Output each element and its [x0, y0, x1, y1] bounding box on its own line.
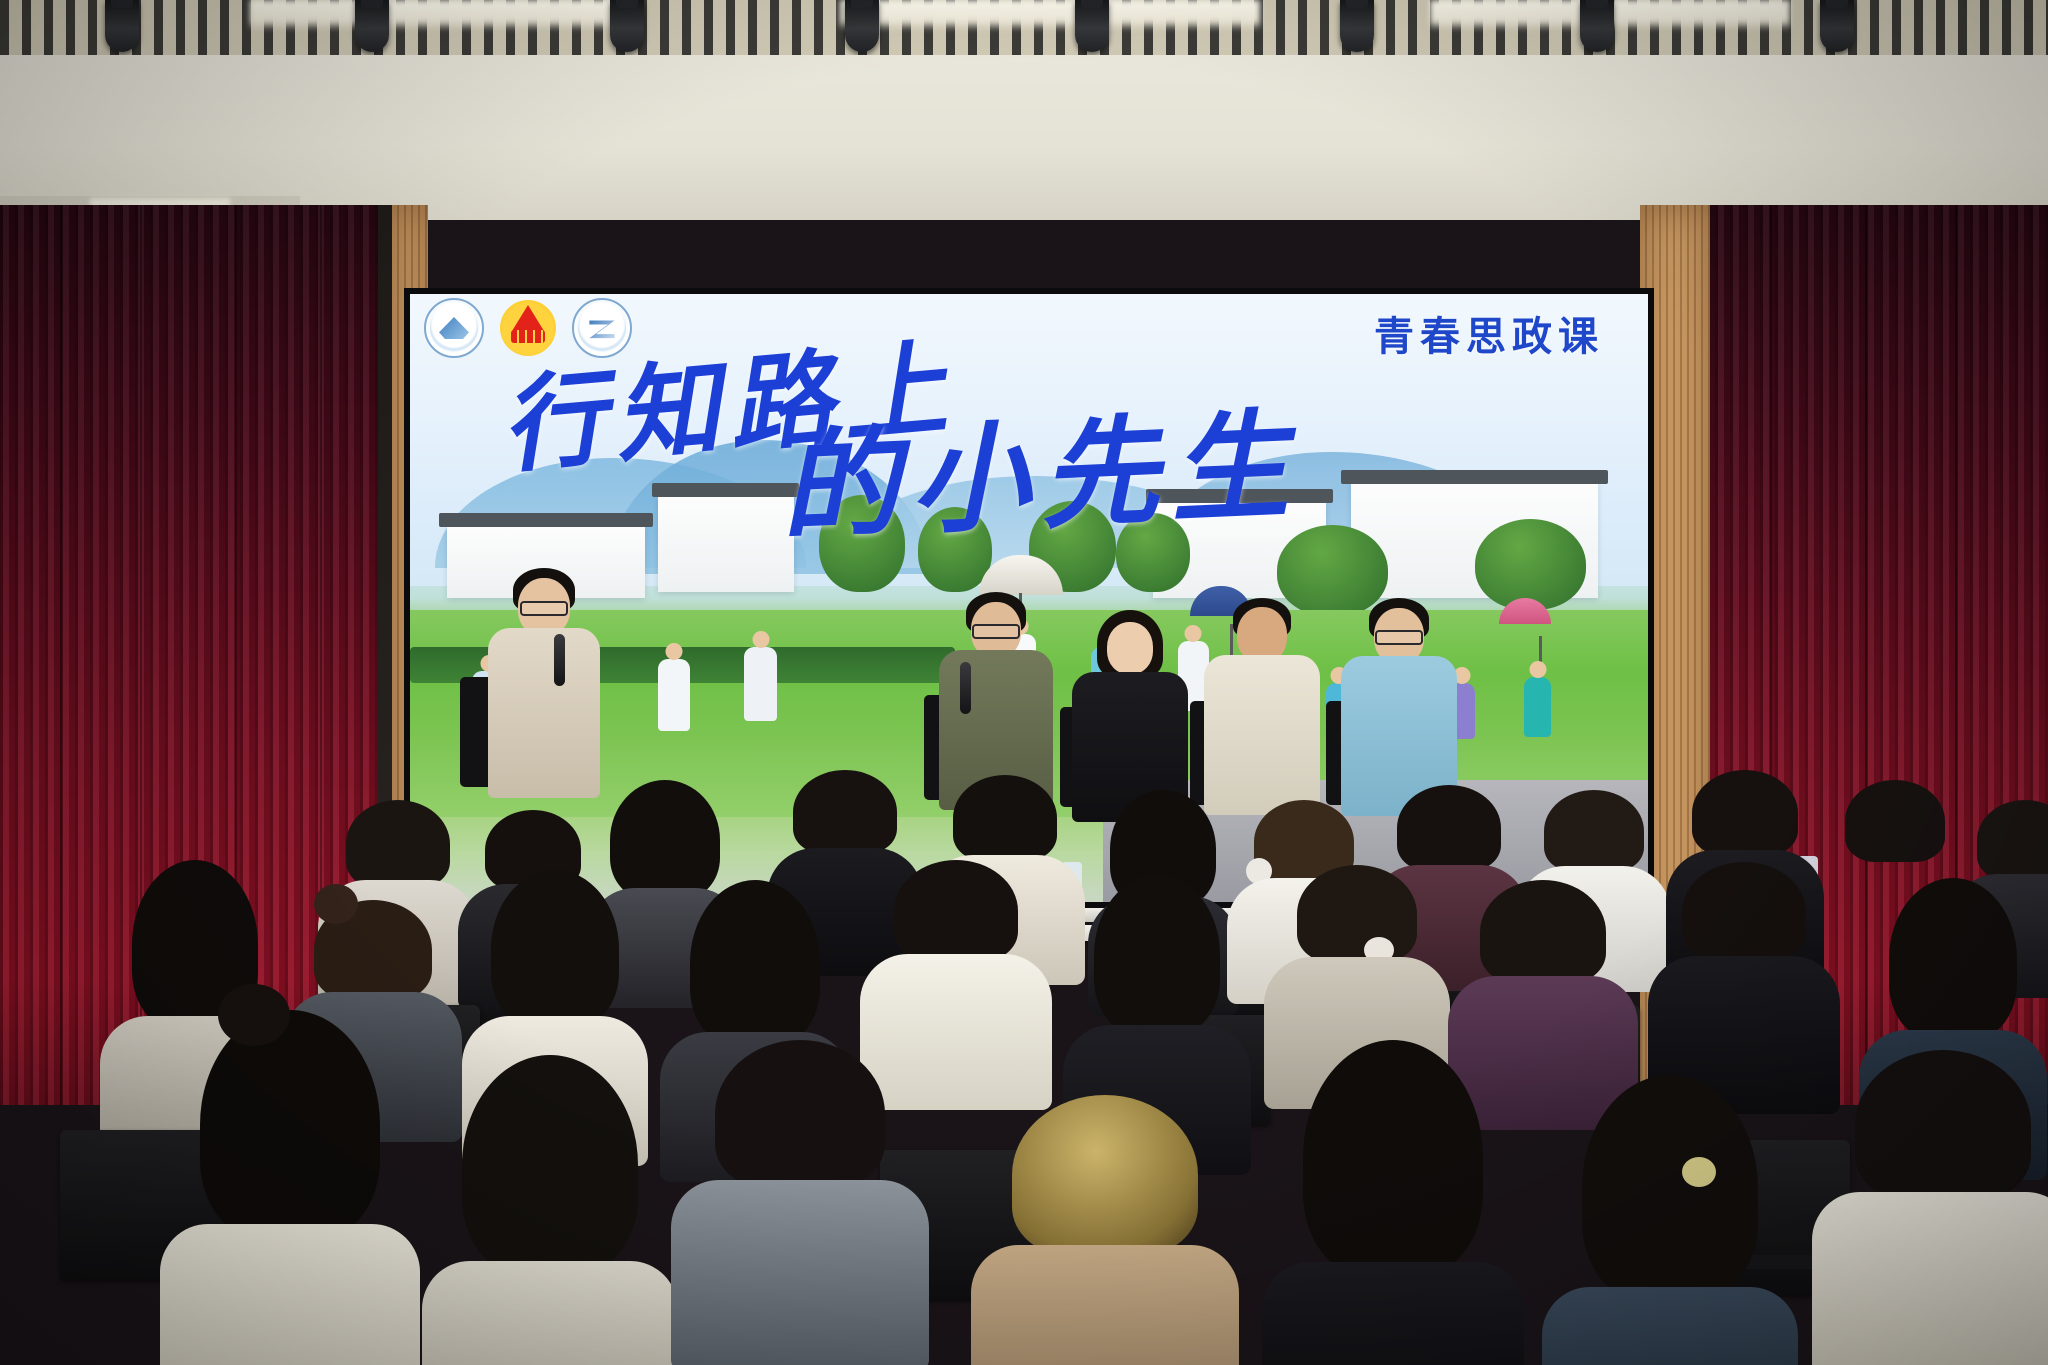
slide-village-building: [658, 495, 794, 592]
panelist-blue-polo: [1339, 598, 1459, 810]
hair-bun: [218, 984, 290, 1046]
slide-calligraphy-line2: 的小先生: [777, 369, 1304, 563]
spotlight-fixture: [355, 0, 389, 52]
panelist-moderator-beige-shirt: [484, 568, 604, 798]
spotlight-fixture: [1340, 0, 1374, 52]
slide-child: [1524, 677, 1551, 737]
spotlight-fixture: [1580, 0, 1614, 52]
front-wall: [0, 55, 2048, 220]
hair-tie: [1682, 1157, 1716, 1187]
spotlight-fixture: [610, 0, 644, 52]
panelist-woman-black-top: [1072, 610, 1187, 815]
ceiling-grille: [0, 0, 2048, 58]
school-seal-logo: [424, 298, 484, 358]
spotlight-fixture: [105, 0, 139, 52]
handheld-microphone: [960, 662, 971, 714]
auditorium-photo-scene: 青春思政课 行知路上 的小先生: [0, 0, 2048, 1365]
spotlight-fixture: [1075, 0, 1109, 52]
slide-corner-tag: 青春思政课: [1374, 304, 1604, 362]
panelist-cream-polo: [1202, 598, 1322, 810]
handheld-microphone: [554, 634, 565, 686]
spotlight-fixture: [1820, 0, 1854, 52]
spotlight-fixture: [845, 0, 879, 52]
slide-child: [658, 659, 690, 731]
slide-tree: [1475, 519, 1586, 610]
slide-child: [744, 647, 777, 721]
hair-bun: [314, 884, 358, 924]
